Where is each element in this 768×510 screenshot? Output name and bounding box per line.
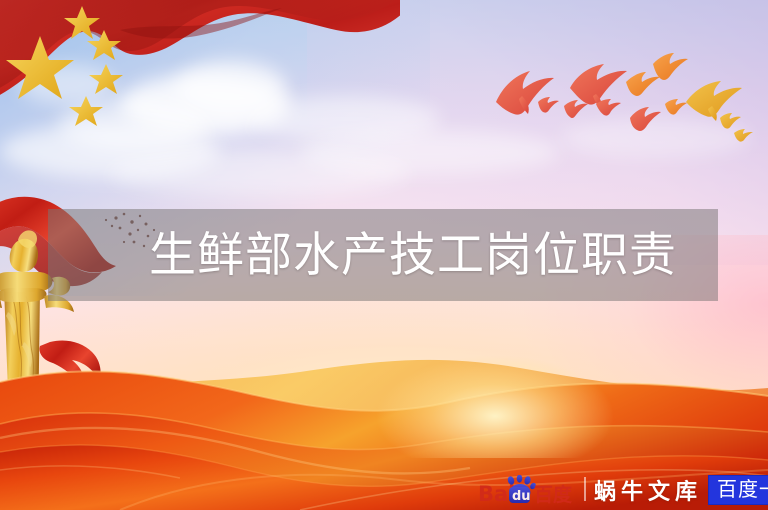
- site-name: 蜗牛文库: [594, 474, 702, 506]
- svg-text:百度: 百度: [534, 483, 573, 505]
- branding-bar: Bai du 百度 蜗牛文库 百度一下: [478, 473, 768, 507]
- page-title: 生鲜部水产技工岗位职责: [149, 232, 677, 279]
- banner-image: 生鲜部水产技工岗位职责 Bai: [0, 0, 768, 510]
- baidu-logo-icon[interactable]: Bai du 百度: [478, 475, 578, 505]
- svg-text:du: du: [512, 489, 531, 504]
- title-banner-bar: 生鲜部水产技工岗位职责: [48, 209, 718, 301]
- bird-flock-icon: [478, 44, 768, 164]
- chinese-flag-icon: [0, 0, 400, 184]
- baidu-search-button[interactable]: 百度一下: [708, 475, 768, 505]
- brand-divider: [584, 477, 586, 501]
